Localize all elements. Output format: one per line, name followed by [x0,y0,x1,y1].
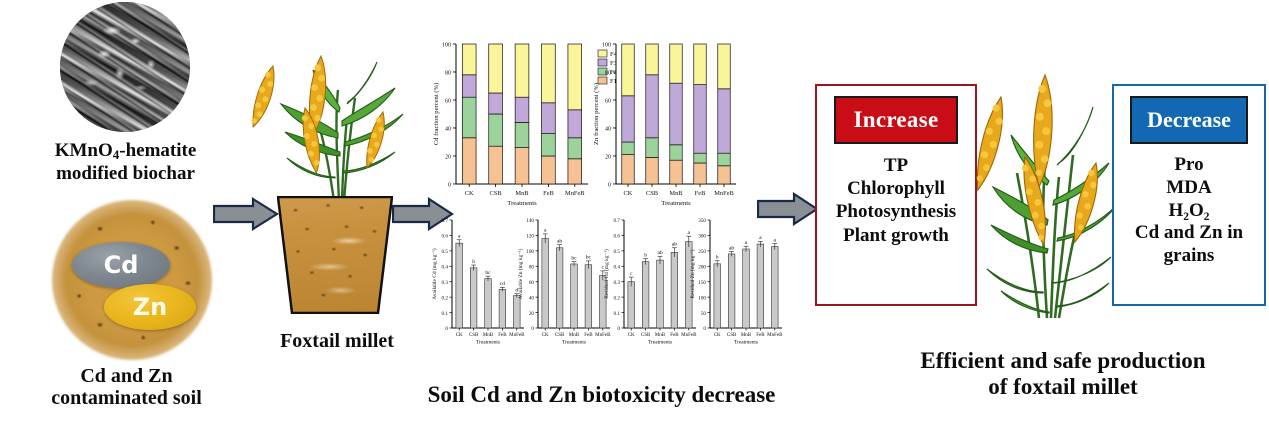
bar [571,264,578,328]
bar-segment-F2 [694,153,706,163]
final-caption-line1: Efficient and safe production [920,348,1205,373]
soil-caption-line2: contaminated soil [51,387,202,409]
x-tick-label: MnB [569,333,580,338]
y-tick-label: 0 [531,326,534,332]
bar-segment-F2 [542,134,556,156]
x-tick-label: MnFeB [565,190,585,197]
x-tick-label: FeB [584,333,593,338]
bar-segment-F3 [542,103,556,134]
pot-outline [277,196,393,314]
bar-segment-F1 [670,160,682,184]
x-tick-label: FeB [498,333,507,338]
y-tick-label: 100 [526,249,534,255]
bar [714,264,721,328]
y-axis-label: Cd fraction percent (%) [433,83,440,145]
increase-item: Plant growth [817,224,975,247]
bar-segment-F3 [515,97,529,122]
significance-letter: bc [485,270,491,276]
decrease-item-list: Pro MDA H₂O₂ Cd and Zn in grains [1114,154,1264,268]
significance-letter: ab [672,242,677,248]
bar-segment-F2 [646,138,658,158]
x-tick-label: CK [542,333,549,338]
bar-segment-F4 [542,44,556,103]
x-axis-label: Treatments [734,340,758,346]
y-tick-label: 200 [698,264,706,270]
x-tick-label: CSB [641,333,651,338]
bar-segment-F1 [462,138,476,184]
y-axis-label: Available Zn (mg kg⁻¹) [517,248,524,299]
y-tick-label: 0.1 [614,311,621,317]
y-tick-label: 20 [529,311,535,317]
bar [671,252,678,328]
increase-item: TP [817,154,975,177]
chart-cd-fraction: 020406080100CKCSBMnBFeBMnFeBTreatmentsCd… [433,43,618,207]
y-tick-label: 0.6 [442,234,449,240]
y-tick-label: 0.3 [614,280,621,286]
zn-label-ellipse: Zn [104,284,196,330]
healthy-millet-illustration [963,45,1133,320]
millet-caption: Foxtail millet [252,330,422,352]
x-tick-label: FeB [543,190,554,197]
x-tick-label: FeB [695,190,706,197]
bar [456,243,463,328]
significance-letter: ab [557,238,562,244]
biochar-caption-line2: modified biochar [56,163,195,184]
bar-segment-F1 [542,156,556,184]
y-tick-label: 0.5 [442,249,449,255]
y-tick-label: 0 [703,326,706,332]
bar [585,265,592,328]
x-tick-label: CK [465,190,474,197]
significance-letter: cd [500,281,505,287]
x-tick-label: FeB [756,333,765,338]
y-tick-label: 140 [526,218,534,224]
bar-segment-F4 [646,44,658,75]
bar [513,296,520,328]
y-axis-label: Residual Cd (mg kg⁻¹) [603,249,610,299]
biochar-caption: KMnO4-hematite modified biochar [18,140,233,184]
significance-letter: bc [571,255,577,261]
bar [728,254,735,328]
bar-segment-F3 [489,93,503,114]
foxtail-millet-plant-illustration [243,38,433,203]
arrow-charts-to-outcome [757,192,819,226]
y-tick-label: 0.7 [442,218,449,224]
chart-available-zn: 020406080100120140aCKabCSBbcMnBbcFeBcMnF… [517,218,611,345]
bar-segment-F4 [515,44,529,97]
cd-label-text: Cd [104,251,139,279]
bar-segment-F2 [670,145,682,160]
y-tick-label: 120 [526,234,534,240]
x-tick-label: CSB [555,333,565,338]
bar-segment-F3 [646,75,658,138]
y-tick-label: 0.3 [442,280,449,286]
y-tick-label: 0.4 [614,264,621,270]
x-axis-label: Treatments [648,340,672,346]
y-tick-label: 0.4 [442,264,449,270]
bar-segment-F4 [694,44,706,85]
results-charts-panel: 020406080100CKCSBMnBFeBMnFeBTreatmentsCd… [428,30,788,360]
y-tick-label: 0 [445,326,448,332]
biochar-sem-image [60,2,190,132]
y-tick-label: 20 [445,155,451,161]
bar-segment-F3 [568,110,582,138]
final-caption-line2: of foxtail millet [988,374,1137,399]
x-tick-label: MnFeB [681,333,697,338]
bar [556,248,563,328]
x-tick-label: CK [624,190,633,197]
decrease-item: grains [1114,245,1264,268]
chart-residual-cd: 00.10.20.30.40.50.60.7cCKbCSBabMnBabFeBa… [603,218,697,345]
bar [628,282,635,328]
y-tick-label: 0.5 [614,249,621,255]
x-axis-label: Treatments [661,200,691,207]
final-caption: Efficient and safe production of foxtail… [868,348,1258,400]
bar-segment-F3 [462,75,476,97]
decrease-item: Cd and Zn in [1114,222,1264,245]
y-tick-label: 0 [448,183,451,189]
y-tick-label: 0 [608,183,611,189]
y-tick-label: 0.6 [614,234,621,240]
significance-letter: a [759,235,762,241]
y-tick-label: 100 [602,43,611,49]
legend-swatch-F4 [598,50,607,57]
y-tick-label: 40 [529,295,535,301]
legend-swatch-F1 [598,77,607,84]
contaminated-soil-image: Cd Zn [52,200,212,360]
biochar-caption-line1: KMnO4-hematite [55,140,197,161]
x-tick-label: CK [714,333,721,338]
bar-segment-F4 [718,44,730,89]
decrease-panel: Decrease Pro MDA H₂O₂ Cd and Zn in grain… [1112,84,1266,306]
bar-segment-F3 [718,89,730,153]
y-tick-label: 300 [698,234,706,240]
chart-available-cd: 00.10.20.30.40.50.60.7aCKbCSBbcMnBcdFeBd… [431,218,525,345]
x-tick-label: MnFeB [509,333,525,338]
bar-segment-F2 [622,142,634,155]
bar [757,244,764,328]
bar-segment-F1 [694,163,706,184]
y-tick-label: 0.7 [614,218,621,224]
sem-particles [60,2,190,132]
increase-panel: Increase TP Chlorophyll Photosynthesis P… [815,84,977,306]
significance-letter: b [472,259,475,265]
soil-caption: Cd and Zn contaminated soil [14,365,239,410]
y-tick-label: 60 [605,99,611,105]
decrease-item: MDA [1114,177,1264,200]
x-tick-label: CK [456,333,463,338]
increase-badge-label: Increase [853,107,938,133]
significance-letter: ab [657,250,662,256]
y-tick-label: 80 [529,264,535,270]
x-tick-label: CSB [469,333,479,338]
x-tick-label: MnFeB [595,333,611,338]
x-tick-label: CK [628,333,635,338]
bar-segment-F1 [646,157,658,184]
charts-svg: 020406080100CKCSBMnBFeBMnFeBTreatmentsCd… [428,30,788,360]
x-tick-label: MnFeB [714,190,734,197]
bar-segment-F3 [622,96,634,142]
bar-segment-F4 [489,44,503,93]
y-tick-label: 150 [698,280,706,286]
bar-segment-F3 [694,85,706,154]
bar-segment-F4 [462,44,476,75]
bar [743,249,750,328]
bar-segment-F1 [718,166,730,184]
bar [499,289,506,328]
y-tick-label: 40 [605,127,611,133]
y-tick-label: 100 [442,43,451,49]
y-tick-label: 250 [698,249,706,255]
bar-segment-F2 [718,153,730,166]
y-axis-label: Zn fraction percent (%) [593,83,600,145]
increase-badge: Increase [834,96,958,144]
y-tick-label: 0 [617,326,620,332]
x-tick-label: MnB [655,333,666,338]
x-tick-label: MnFeB [767,333,783,338]
bar [542,239,549,328]
plant-pot [277,196,393,314]
increase-item-list: TP Chlorophyll Photosynthesis Plant grow… [817,154,975,247]
significance-letter: c [630,271,633,277]
significance-letter: bc [586,255,592,261]
y-tick-label: 0.2 [614,295,621,301]
x-tick-label: FeB [670,333,679,338]
significance-letter: a [774,237,777,243]
bar-segment-F1 [568,159,582,184]
significance-letter: a [544,228,547,234]
bar-segment-F2 [568,138,582,159]
bar [657,260,664,328]
y-tick-label: 60 [529,280,535,286]
y-tick-label: 350 [698,218,706,224]
significance-letter: a [458,234,461,240]
significance-letter: ab [729,245,734,251]
bar-segment-F2 [489,114,503,146]
y-tick-label: 80 [445,71,451,77]
x-axis-label: Treatments [507,200,537,207]
y-tick-label: 60 [445,99,451,105]
bar-segment-F1 [515,148,529,184]
cd-label-ellipse: Cd [72,242,170,288]
soil-caption-line1: Cd and Zn [80,365,172,387]
x-tick-label: CSB [727,333,737,338]
y-tick-label: 50 [701,311,707,317]
x-axis-label: Treatments [476,340,500,346]
significance-letter: b [644,252,647,258]
biotoxicity-caption: Soil Cd and Zn biotoxicity decrease [404,382,799,408]
y-tick-label: 100 [698,295,706,301]
y-tick-label: 0.1 [442,311,449,317]
x-tick-label: MnB [483,333,494,338]
increase-item: Chlorophyll [817,177,975,200]
bar-segment-F4 [622,44,634,96]
zn-label-text: Zn [133,293,168,321]
decrease-item: H₂O₂ [1114,200,1264,223]
y-axis-label: Residual Zn (mg kg⁻¹) [689,249,696,298]
bar-segment-F4 [568,44,582,110]
y-tick-label: 0.2 [442,295,449,301]
bar-segment-F4 [670,44,682,83]
y-tick-label: 40 [445,127,451,133]
bar [470,268,477,328]
bar [485,279,492,328]
decrease-badge-label: Decrease [1147,107,1231,133]
x-tick-label: MnB [669,190,682,197]
y-axis-label: Available Cd (mg kg⁻¹) [431,248,438,299]
bar-segment-F3 [670,83,682,145]
bar [642,262,649,328]
bar [771,247,778,328]
bar-segment-F1 [489,146,503,184]
bar-segment-F2 [515,122,529,147]
x-axis-label: Treatments [562,340,586,346]
bar-segment-F1 [622,155,634,184]
y-tick-label: 20 [605,155,611,161]
chart-residual-zn: 050100150200250300350bCKabCSBaMnBaFeBaMn… [689,218,783,345]
y-tick-label: 80 [605,71,611,77]
bar-segment-F2 [462,97,476,138]
x-tick-label: CSB [646,190,658,197]
decrease-item: Pro [1114,154,1264,177]
significance-letter: a [688,230,691,236]
chart-zn-fraction: 020406080100CKCSBMnBFeBMnFeBTreatmentsZn… [593,43,736,207]
significance-letter: b [716,255,719,261]
x-tick-label: CSB [490,190,502,197]
significance-letter: a [745,240,748,246]
legend-swatch-F3 [598,59,607,66]
increase-item: Photosynthesis [817,200,975,223]
x-tick-label: MnB [741,333,752,338]
decrease-badge: Decrease [1130,96,1248,144]
x-tick-label: MnB [515,190,528,197]
